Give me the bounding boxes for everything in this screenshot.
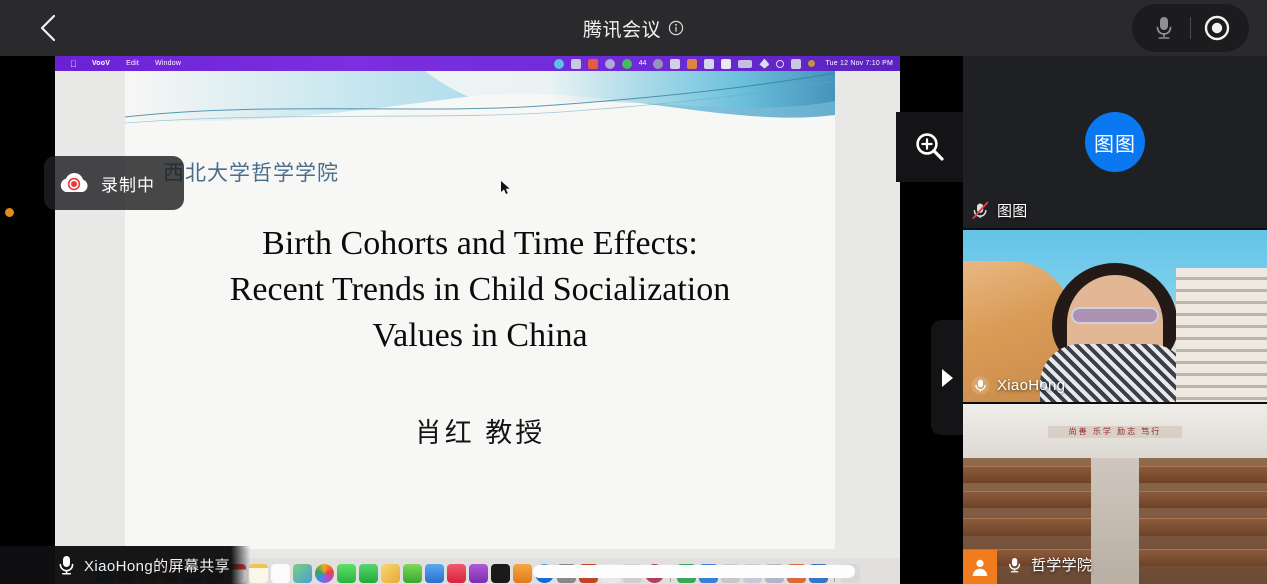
top-bar-controls <box>1132 4 1249 52</box>
participant-tile-xiaohong[interactable]: XiaoHong <box>963 230 1267 402</box>
wifi-icon[interactable] <box>759 59 769 69</box>
zoom-in-magnifier-icon <box>913 130 947 164</box>
menu-bar-clock[interactable]: Tue 12 Nov 7:10 PM <box>822 60 893 67</box>
info-circle-icon[interactable] <box>668 20 684 36</box>
participant-footer: 图图 <box>971 200 1028 221</box>
notification-count: 44 <box>639 60 647 67</box>
avatar: 图图 <box>1085 112 1145 172</box>
slide-title-line-2: Recent Trends in Child Socialization <box>125 267 835 313</box>
play-triangle-right-icon <box>939 368 955 388</box>
cloud-sync-icon[interactable] <box>554 59 564 69</box>
presentation-slide: 西北大学哲学学院 Birth Cohorts and Time Effects:… <box>125 71 835 549</box>
top-bar: 腾讯会议 <box>0 0 1267 56</box>
page-title: 腾讯会议 <box>583 15 661 42</box>
battery-icon[interactable] <box>738 60 752 68</box>
mic-toggle-button[interactable] <box>1138 4 1190 52</box>
microphone-icon <box>58 554 75 576</box>
orange-dot-indicator <box>5 208 14 217</box>
record-camera-icon <box>1203 14 1231 42</box>
menu-item-edit[interactable]: Edit <box>118 60 147 67</box>
slide-author: 肖红 教授 <box>125 411 835 450</box>
wechat-icon[interactable] <box>622 59 632 69</box>
slide-title-line-1: Birth Cohorts and Time Effects: <box>125 221 835 267</box>
binoculars-icon[interactable] <box>670 59 680 69</box>
host-badge <box>963 550 997 584</box>
menu-item-window[interactable]: Window <box>147 60 189 67</box>
camera-record-button[interactable] <box>1191 4 1243 52</box>
apple-logo-icon[interactable]:  <box>63 59 84 69</box>
macos-menu-bar:  VooV Edit Window 44 <box>55 56 900 71</box>
letter-a-icon[interactable] <box>721 59 731 69</box>
search-icon[interactable] <box>776 60 784 68</box>
slide-wave-decoration <box>125 71 835 133</box>
share-status-bar: XiaoHong的屏幕共享 <box>0 546 963 584</box>
microphone-muted-icon <box>971 201 990 220</box>
zoom-in-button[interactable] <box>896 112 963 182</box>
hall-aisle <box>1091 458 1140 584</box>
at-icon[interactable] <box>605 59 615 69</box>
display-icon[interactable] <box>704 59 714 69</box>
participants-sidebar: 图图 图图 <box>963 56 1267 584</box>
microphone-icon <box>1005 555 1024 574</box>
stack-icon[interactable] <box>571 59 581 69</box>
meeting-title-group[interactable]: 腾讯会议 <box>0 0 1267 56</box>
shared-screen-area[interactable]:  VooV Edit Window 44 <box>0 56 963 584</box>
participant-footer: 哲学学院 <box>1005 554 1092 575</box>
host-person-icon <box>970 557 990 577</box>
share-label-text: XiaoHong的屏幕共享 <box>84 555 230 576</box>
menu-bar-left:  VooV Edit Window <box>55 59 189 69</box>
slide-title: Birth Cohorts and Time Effects: Recent T… <box>125 221 835 359</box>
recording-badge: 录制中 <box>44 156 184 210</box>
globe-icon[interactable] <box>653 59 663 69</box>
participant-tile-philosophy[interactable]: 尚善 乐学 励志 笃行 <box>963 404 1267 584</box>
screen-icon[interactable] <box>791 59 801 69</box>
expand-panel-handle[interactable] <box>931 320 963 435</box>
recording-label: 录制中 <box>101 171 155 196</box>
voov-meeting-window: 腾讯会议 <box>0 0 1267 584</box>
participant-name: 哲学学院 <box>1031 554 1092 575</box>
shared-desktop:  VooV Edit Window 44 <box>55 56 900 584</box>
microphone-icon <box>971 376 990 395</box>
slide-organization: 西北大学哲学学院 <box>163 157 339 187</box>
participant-footer: XiaoHong <box>971 376 1065 395</box>
mouse-cursor-icon <box>501 181 511 195</box>
participant-name: 图图 <box>997 200 1028 221</box>
participant-name: XiaoHong <box>997 377 1065 394</box>
menu-bar-status-icons: 44 Tue 12 Nov 7:10 PM <box>554 59 900 69</box>
shield-icon[interactable] <box>687 59 697 69</box>
cloud-record-icon <box>57 170 91 196</box>
dot-icon[interactable] <box>808 60 815 67</box>
menu-item-app[interactable]: VooV <box>84 60 118 67</box>
participant-tile-tutu[interactable]: 图图 图图 <box>963 56 1267 228</box>
slide-title-line-3: Values in China <box>125 313 835 359</box>
slack-icon[interactable] <box>588 59 598 69</box>
glasses <box>1071 307 1159 324</box>
microphone-icon <box>1153 13 1175 43</box>
hall-banner: 尚善 乐学 励志 笃行 <box>1048 426 1182 439</box>
